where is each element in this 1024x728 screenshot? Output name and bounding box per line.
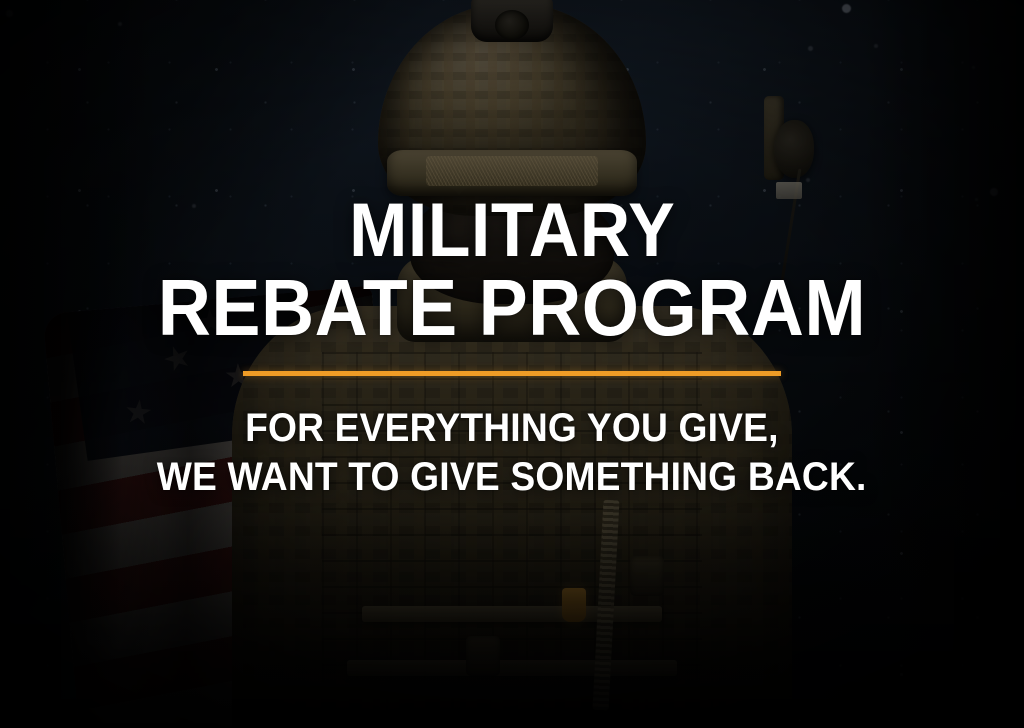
military-rebate-banner: MILITARY REBATE PROGRAM FOR EVERYTHING Y…	[0, 0, 1024, 728]
subheadline-line-1: FOR EVERYTHING YOU GIVE,	[245, 406, 779, 451]
subheadline-line-2: WE WANT TO GIVE SOMETHING BACK.	[157, 455, 867, 500]
headline-line-1: MILITARY	[349, 196, 675, 267]
orange-divider-rule	[243, 371, 781, 376]
headline-line-2: REBATE PROGRAM	[158, 271, 866, 345]
banner-content: MILITARY REBATE PROGRAM FOR EVERYTHING Y…	[0, 0, 1024, 728]
